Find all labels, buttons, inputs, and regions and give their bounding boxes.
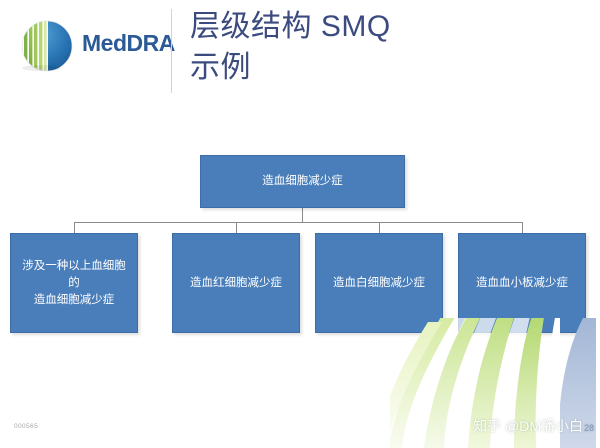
connector-drop-3 [379,222,380,233]
diagram-node-child-4[interactable]: 造血血小板减少症 [458,233,586,333]
connector-drop-1 [74,222,75,233]
slide-canvas: MedDRA 层级结构 SMQ 示例 造血细胞减少症 涉及一种以上血细胞的 造血… [0,0,600,448]
diagram-node-child-2[interactable]: 造血红细胞减少症 [172,233,300,333]
watermark: 知乎 @DM潘小白 28 [473,416,594,436]
connector-drop-2 [236,222,237,233]
diagram-node-child-3[interactable]: 造血白细胞减少症 [315,233,443,333]
watermark-text: 知乎 @DM潘小白 [473,416,583,436]
hierarchy-diagram: 造血细胞减少症 涉及一种以上血细胞的 造血细胞减少症 造血红细胞减少症 造血白细… [0,0,600,448]
watermark-number: 28 [584,423,594,433]
diagram-node-root[interactable]: 造血细胞减少症 [200,155,405,208]
diagram-node-child-1[interactable]: 涉及一种以上血细胞的 造血细胞减少症 [10,233,138,333]
connector-root-stem [302,208,303,223]
connector-drop-4 [522,222,523,233]
connector-horizontal-bus [74,222,522,223]
slide-page-number: 000565 [14,423,38,430]
